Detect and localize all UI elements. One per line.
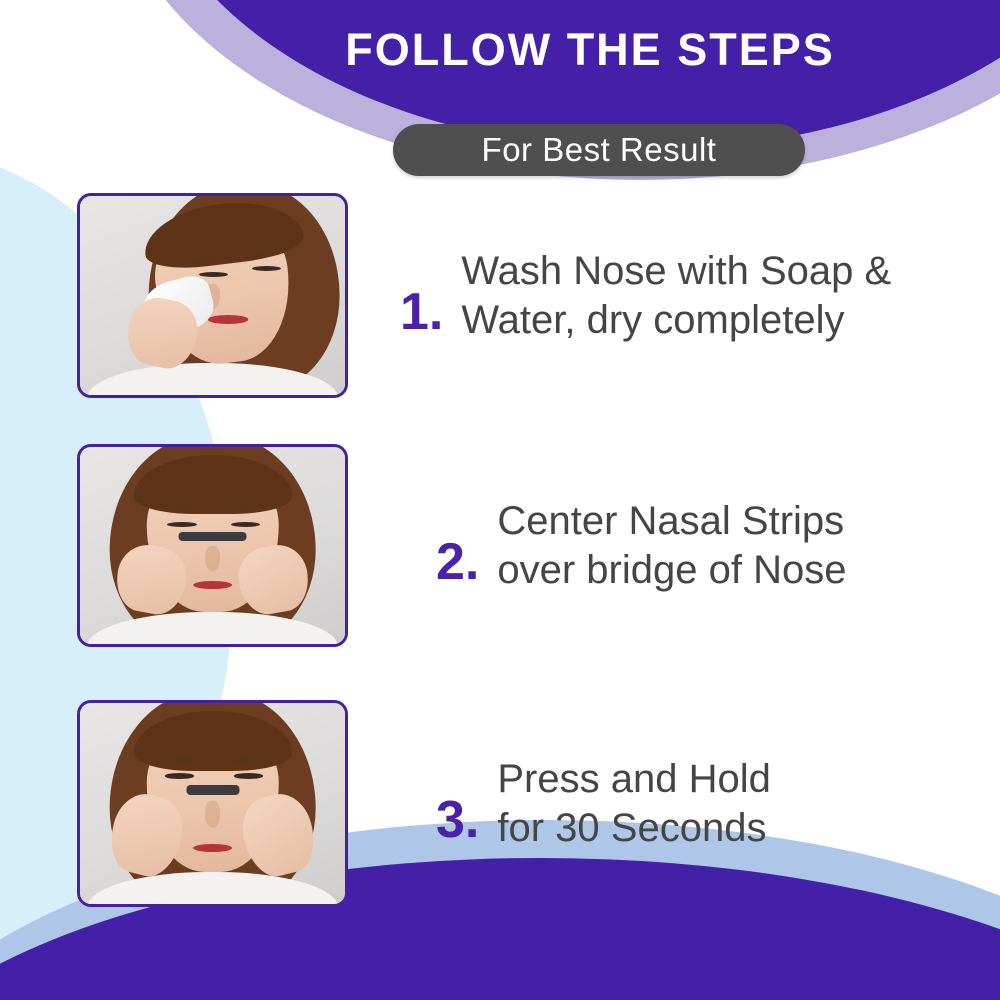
- illustration-press-hold: [80, 703, 345, 904]
- step-item-2: 2. Center Nasal Strips over bridge of No…: [77, 444, 957, 647]
- step-photo-3: [77, 700, 348, 907]
- step-text-3: 3. Press and Hold for 30 Seconds: [348, 755, 771, 853]
- illustration-wash-nose: [80, 196, 345, 395]
- step-line1-1: Wash Nose with Soap &: [461, 249, 891, 293]
- step-line1-2: Center Nasal Strips: [497, 499, 844, 543]
- poster-canvas: FOLLOW THE STEPS For Best Result: [0, 0, 1000, 1000]
- step-number-2: 2.: [436, 536, 479, 594]
- step-lines-2: Center Nasal Strips over bridge of Nose: [497, 497, 846, 595]
- step-number-3: 3.: [436, 794, 479, 852]
- step-text-2: 2. Center Nasal Strips over bridge of No…: [348, 497, 846, 595]
- illustration-center-strip: [80, 447, 345, 644]
- step-item-3: 3. Press and Hold for 30 Seconds: [77, 700, 957, 907]
- step-item-1: 1. Wash Nose with Soap & Water, dry comp…: [77, 193, 957, 398]
- step-photo-2: [77, 444, 348, 647]
- step-lines-1: Wash Nose with Soap & Water, dry complet…: [461, 247, 891, 345]
- step-line1-3: Press and Hold: [497, 757, 770, 801]
- step-line2-3: for 30 Seconds: [497, 804, 770, 853]
- step-photo-1: [77, 193, 348, 398]
- step-number-1: 1.: [400, 286, 443, 344]
- step-line2-2: over bridge of Nose: [497, 546, 846, 595]
- step-line2-1: Water, dry completely: [461, 296, 891, 345]
- step-lines-3: Press and Hold for 30 Seconds: [497, 755, 770, 853]
- page-title: FOLLOW THE STEPS: [0, 24, 1000, 76]
- subtitle-badge: For Best Result: [393, 124, 805, 176]
- step-text-1: 1. Wash Nose with Soap & Water, dry comp…: [348, 247, 891, 345]
- subtitle-badge-label: For Best Result: [482, 131, 717, 169]
